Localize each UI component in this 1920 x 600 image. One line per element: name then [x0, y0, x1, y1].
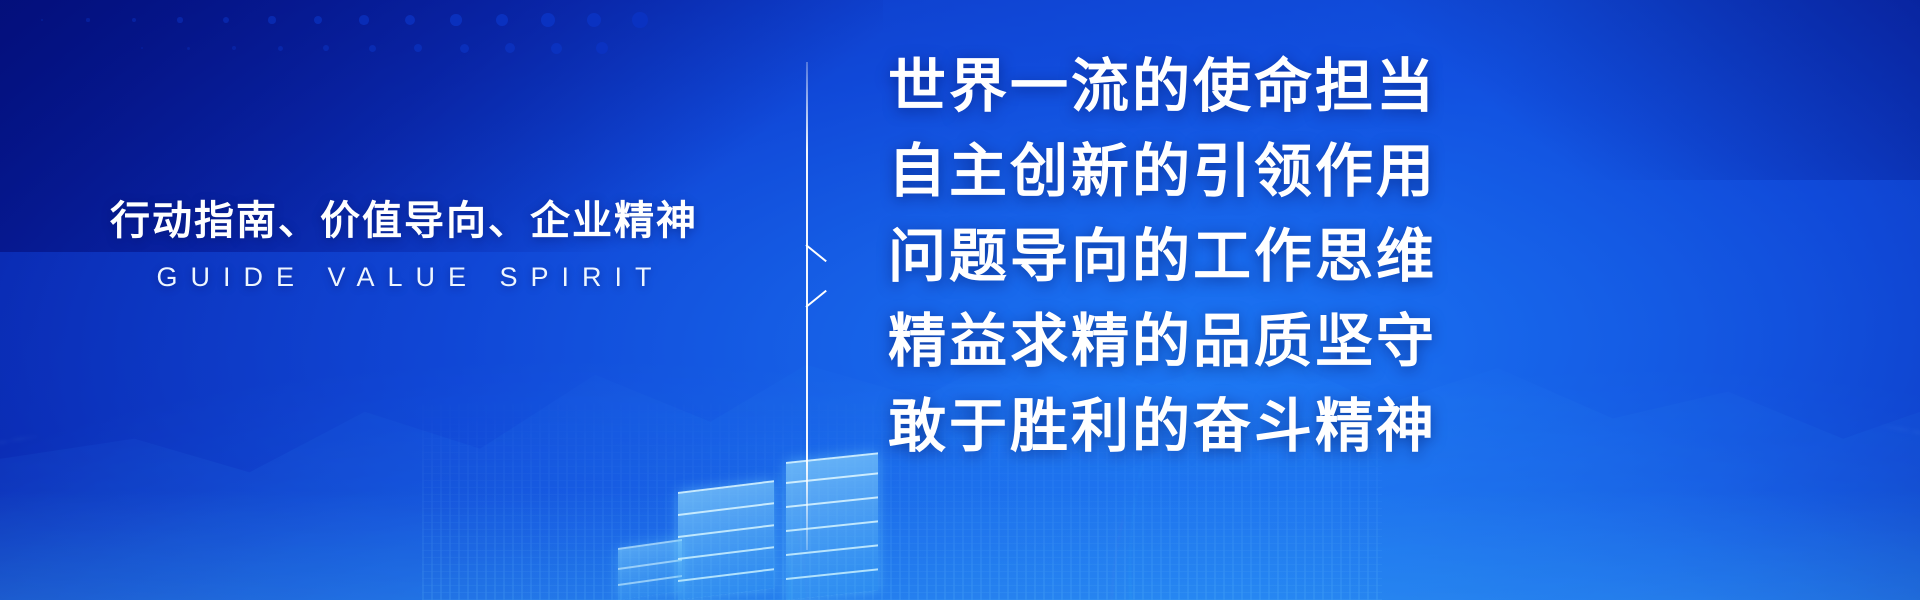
decorative-dot: [405, 15, 415, 25]
decorative-dot: [551, 43, 562, 54]
left-headline-chinese: 行动指南、价值导向、企业精神: [0, 196, 808, 247]
left-slogan-block: 行动指南、价值导向、企业精神 GUIDE VALUE SPIRIT: [0, 196, 808, 294]
decorative-dot: [632, 12, 648, 28]
decorative-dot: [596, 42, 608, 54]
decorative-dot: [359, 15, 368, 24]
right-slogan-line: 敢于胜利的奋斗精神: [888, 384, 1888, 469]
decorative-dot: [187, 47, 190, 50]
right-slogan-line: 问题导向的工作思维: [888, 214, 1888, 299]
decorative-dot: [505, 43, 515, 53]
building-left: [678, 480, 774, 600]
dot-grid-decoration: [0, 0, 720, 90]
decorative-dot: [141, 47, 143, 49]
decorative-dot: [314, 16, 322, 24]
decorative-dot: [278, 46, 283, 51]
decorative-dot: [369, 45, 376, 52]
chevron-right-icon: [806, 244, 828, 308]
decorative-dot: [232, 46, 236, 50]
decorative-dot: [450, 14, 461, 25]
decorative-dot: [587, 13, 602, 28]
decorative-dot: [223, 17, 229, 23]
right-slogan-list: 世界一流的使命担当自主创新的引领作用问题导向的工作思维精益求精的品质坚守敢于胜利…: [888, 44, 1888, 469]
decorative-dot: [496, 14, 509, 27]
decorative-dot: [323, 45, 329, 51]
decorative-dot: [541, 13, 555, 27]
right-slogan-line: 精益求精的品质坚守: [888, 299, 1888, 384]
left-subtitle-english: GUIDE VALUE SPIRIT: [0, 261, 808, 293]
decorative-dot: [177, 17, 182, 22]
decorative-dot: [132, 18, 136, 22]
decorative-dot: [86, 18, 89, 21]
decorative-dot: [414, 44, 422, 52]
decorative-dot: [41, 19, 43, 21]
decorative-dot: [460, 44, 469, 53]
right-slogan-line: 世界一流的使命担当: [888, 44, 1888, 129]
vertical-divider: [806, 62, 840, 550]
corporate-culture-banner: 行动指南、价值导向、企业精神 GUIDE VALUE SPIRIT 世界一流的使…: [0, 0, 1920, 600]
decorative-dot: [268, 16, 275, 23]
building-small: [618, 539, 682, 600]
right-slogan-line: 自主创新的引领作用: [888, 129, 1888, 214]
